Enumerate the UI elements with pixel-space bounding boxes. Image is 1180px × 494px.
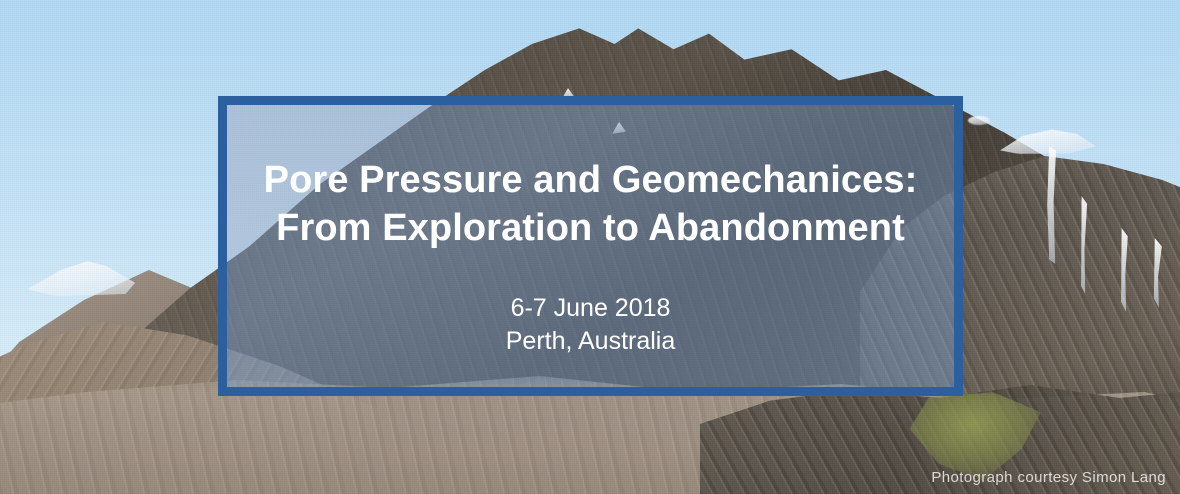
event-title-line-2: From Exploration to Abandonment <box>227 205 954 251</box>
event-location: Perth, Australia <box>227 325 954 358</box>
photograph-credit: Photograph courtesy Simon Lang <box>931 469 1166 486</box>
event-title-line-1: Pore Pressure and Geomechanices: <box>227 157 954 203</box>
panel-text-block: Pore Pressure and Geomechanices: From Ex… <box>227 105 954 358</box>
event-dates: 6-7 June 2018 <box>227 292 954 325</box>
conference-banner: Pore Pressure and Geomechanices: From Ex… <box>0 0 1180 494</box>
title-panel: Pore Pressure and Geomechanices: From Ex… <box>218 96 963 396</box>
snow-speck <box>968 116 990 125</box>
